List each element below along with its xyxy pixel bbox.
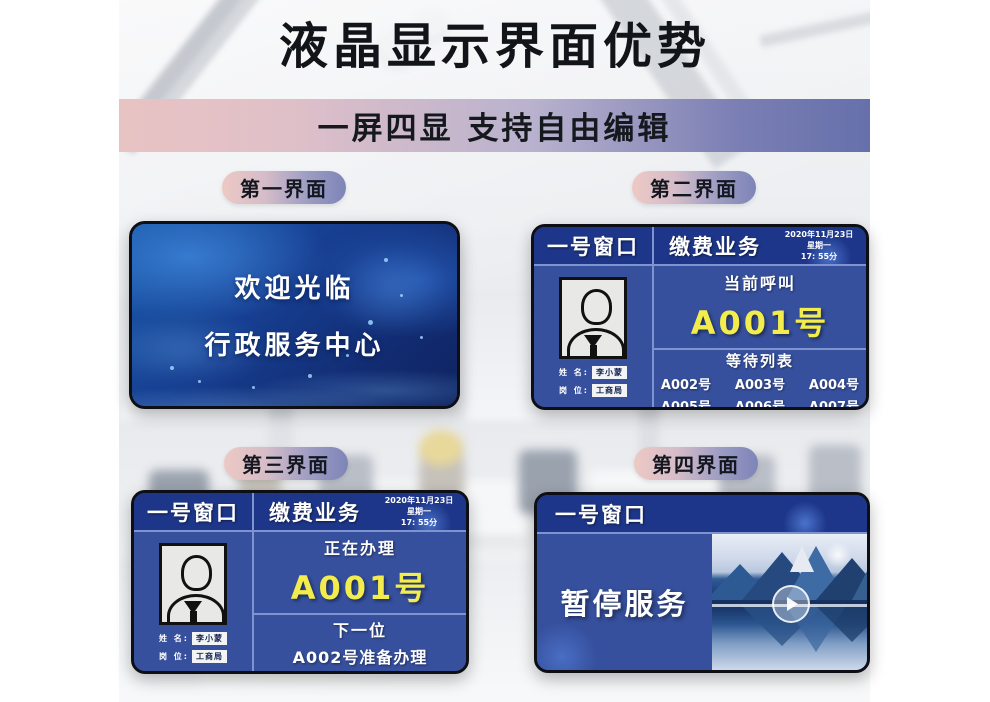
screen-second-interface[interactable]: 一号窗口 缴费业务 2020年11月23日 星期一 17: 55分 <box>531 224 869 410</box>
screen2-business-cell: 缴费业务 <box>654 227 776 264</box>
screen2-body: 姓 名: 李小蒙 岗 位: 工商局 当前呼叫 A001号 <box>534 266 866 407</box>
next-up-label: 下一位 <box>333 617 387 641</box>
screen-first-interface[interactable]: 欢迎光临 行政服务中心 <box>129 221 460 409</box>
date-text: 2020年11月23日 <box>785 230 854 240</box>
avatar-tie <box>190 611 197 622</box>
current-call-number: A001号 <box>691 298 830 344</box>
avatar-tie <box>590 345 597 356</box>
header-glow <box>783 501 827 534</box>
staff-post-row: 岗 位: 工商局 <box>559 384 627 397</box>
screen3-staff-panel: 姓 名: 李小蒙 岗 位: 工商局 <box>134 532 254 671</box>
current-call-section: 当前呼叫 A001号 <box>654 266 866 350</box>
screen3-header: 一号窗口 缴费业务 2020年11月23日 星期一 17: 55分 <box>134 493 466 532</box>
staff-name-key: 姓 名: <box>559 367 589 378</box>
screen4-header: 一号窗口 <box>537 495 867 534</box>
staff-post-key: 岗 位: <box>559 385 589 396</box>
screen2-main-panel: 当前呼叫 A001号 等待列表 A002号 A003号 A004号 <box>654 266 866 407</box>
waiting-list-rows: A002号 A003号 A004号 A005号 A006号 A007号 <box>657 374 863 410</box>
page-title: 液晶显示界面优势 <box>0 16 990 78</box>
waiting-number: A004号 <box>805 374 863 393</box>
screen3-main-panel: 正在办理 A001号 下一位 A002号准备办理 <box>254 532 466 671</box>
staff-name-row: 姓 名: 李小蒙 <box>559 366 627 379</box>
date-text: 2020年11月23日 <box>385 496 454 506</box>
paused-display: 一号窗口 暂停服务 <box>537 495 867 670</box>
staff-fields: 姓 名: 李小蒙 岗 位: 工商局 <box>159 632 227 663</box>
waiting-number: A006号 <box>731 396 789 410</box>
staff-avatar <box>559 277 627 359</box>
window-label: 一号窗口 <box>547 231 639 261</box>
window-label: 一号窗口 <box>555 499 647 529</box>
staff-name-value: 李小蒙 <box>192 632 227 645</box>
left-margin <box>0 0 119 702</box>
waiting-number: A005号 <box>657 396 715 410</box>
staff-post-row: 岗 位: 工商局 <box>159 650 227 663</box>
label-third-interface: 第三界面 <box>224 447 348 480</box>
mountain <box>852 550 867 600</box>
label-first-interface: 第一界面 <box>222 171 346 204</box>
page-root: 液晶显示界面优势 一屏四显 支持自由编辑 第一界面 第二界面 第三界面 第四界面… <box>0 0 990 702</box>
label-second-interface: 第二界面 <box>632 171 756 204</box>
screen4-body: 暂停服务 <box>537 534 867 670</box>
screen3-body: 姓 名: 李小蒙 岗 位: 工商局 正在办理 A001号 <box>134 532 466 671</box>
weekday-text: 星期一 <box>407 507 431 517</box>
waiting-number: A003号 <box>731 374 789 393</box>
weekday-text: 星期一 <box>807 241 831 251</box>
time-text: 17: 55分 <box>401 518 437 528</box>
in-progress-label: 正在办理 <box>324 535 396 559</box>
business-label: 缴费业务 <box>669 231 761 261</box>
subtitle-banner: 一屏四显 支持自由编辑 <box>119 99 870 152</box>
next-up-section: 下一位 A002号准备办理 <box>254 615 466 671</box>
person-hair <box>419 430 463 466</box>
staff-post-value: 工商局 <box>592 384 627 397</box>
staff-avatar <box>159 543 227 625</box>
waiting-list-label: 等待列表 <box>726 350 794 371</box>
welcome-line-1: 欢迎光临 <box>234 268 354 305</box>
staff-name-value: 李小蒙 <box>592 366 627 379</box>
welcome-line-2: 行政服务中心 <box>204 325 384 362</box>
in-progress-section: 正在办理 A001号 <box>254 532 466 615</box>
screen-fourth-interface[interactable]: 一号窗口 暂停服务 <box>534 492 870 673</box>
screen4-status-panel: 暂停服务 <box>537 534 712 670</box>
panel-glow <box>537 622 597 670</box>
screen2-staff-panel: 姓 名: 李小蒙 岗 位: 工商局 <box>534 266 654 407</box>
staff-post-key: 岗 位: <box>159 651 189 662</box>
waiting-number: A002号 <box>657 374 715 393</box>
next-up-number: A002号准备办理 <box>293 644 428 668</box>
staff-name-key: 姓 名: <box>159 633 189 644</box>
waiting-number: A007号 <box>805 396 863 410</box>
screen2-datetime-cell: 2020年11月23日 星期一 17: 55分 <box>776 227 866 264</box>
subtitle-text: 一屏四显 支持自由编辑 <box>318 103 672 148</box>
business-label: 缴费业务 <box>269 497 361 527</box>
screen1-text-block: 欢迎光临 行政服务中心 <box>132 224 457 406</box>
staff-post-value: 工商局 <box>192 650 227 663</box>
screen3-datetime-cell: 2020年11月23日 星期一 17: 55分 <box>376 493 466 530</box>
window-label: 一号窗口 <box>147 497 239 527</box>
avatar-head <box>581 289 612 325</box>
queue-display-2: 一号窗口 缴费业务 2020年11月23日 星期一 17: 55分 <box>534 227 866 407</box>
label-fourth-interface: 第四界面 <box>634 447 758 480</box>
mountain-reflection <box>816 606 867 642</box>
queue-display-3: 一号窗口 缴费业务 2020年11月23日 星期一 17: 55分 <box>134 493 466 671</box>
screen2-header: 一号窗口 缴费业务 2020年11月23日 星期一 17: 55分 <box>534 227 866 266</box>
screen-third-interface[interactable]: 一号窗口 缴费业务 2020年11月23日 星期一 17: 55分 <box>131 490 469 674</box>
screen2-window-cell: 一号窗口 <box>534 227 654 264</box>
screen3-window-cell: 一号窗口 <box>134 493 254 530</box>
staff-fields: 姓 名: 李小蒙 岗 位: 工商局 <box>559 366 627 397</box>
waiting-list-section: 等待列表 A002号 A003号 A004号 A005号 A006号 A007号 <box>654 350 866 410</box>
waiting-row: A005号 A006号 A007号 <box>657 396 863 410</box>
avatar-head <box>181 555 212 591</box>
time-text: 17: 55分 <box>801 252 837 262</box>
in-progress-number: A001号 <box>291 563 430 609</box>
waiting-row: A002号 A003号 A004号 <box>657 374 863 393</box>
current-call-label: 当前呼叫 <box>724 270 796 294</box>
staff-name-row: 姓 名: 李小蒙 <box>159 632 227 645</box>
right-margin <box>870 0 990 702</box>
video-thumbnail[interactable] <box>712 534 867 670</box>
snow-cap <box>790 546 814 572</box>
screen3-business-cell: 缴费业务 <box>254 493 376 530</box>
service-status-text: 暂停服务 <box>560 581 688 623</box>
